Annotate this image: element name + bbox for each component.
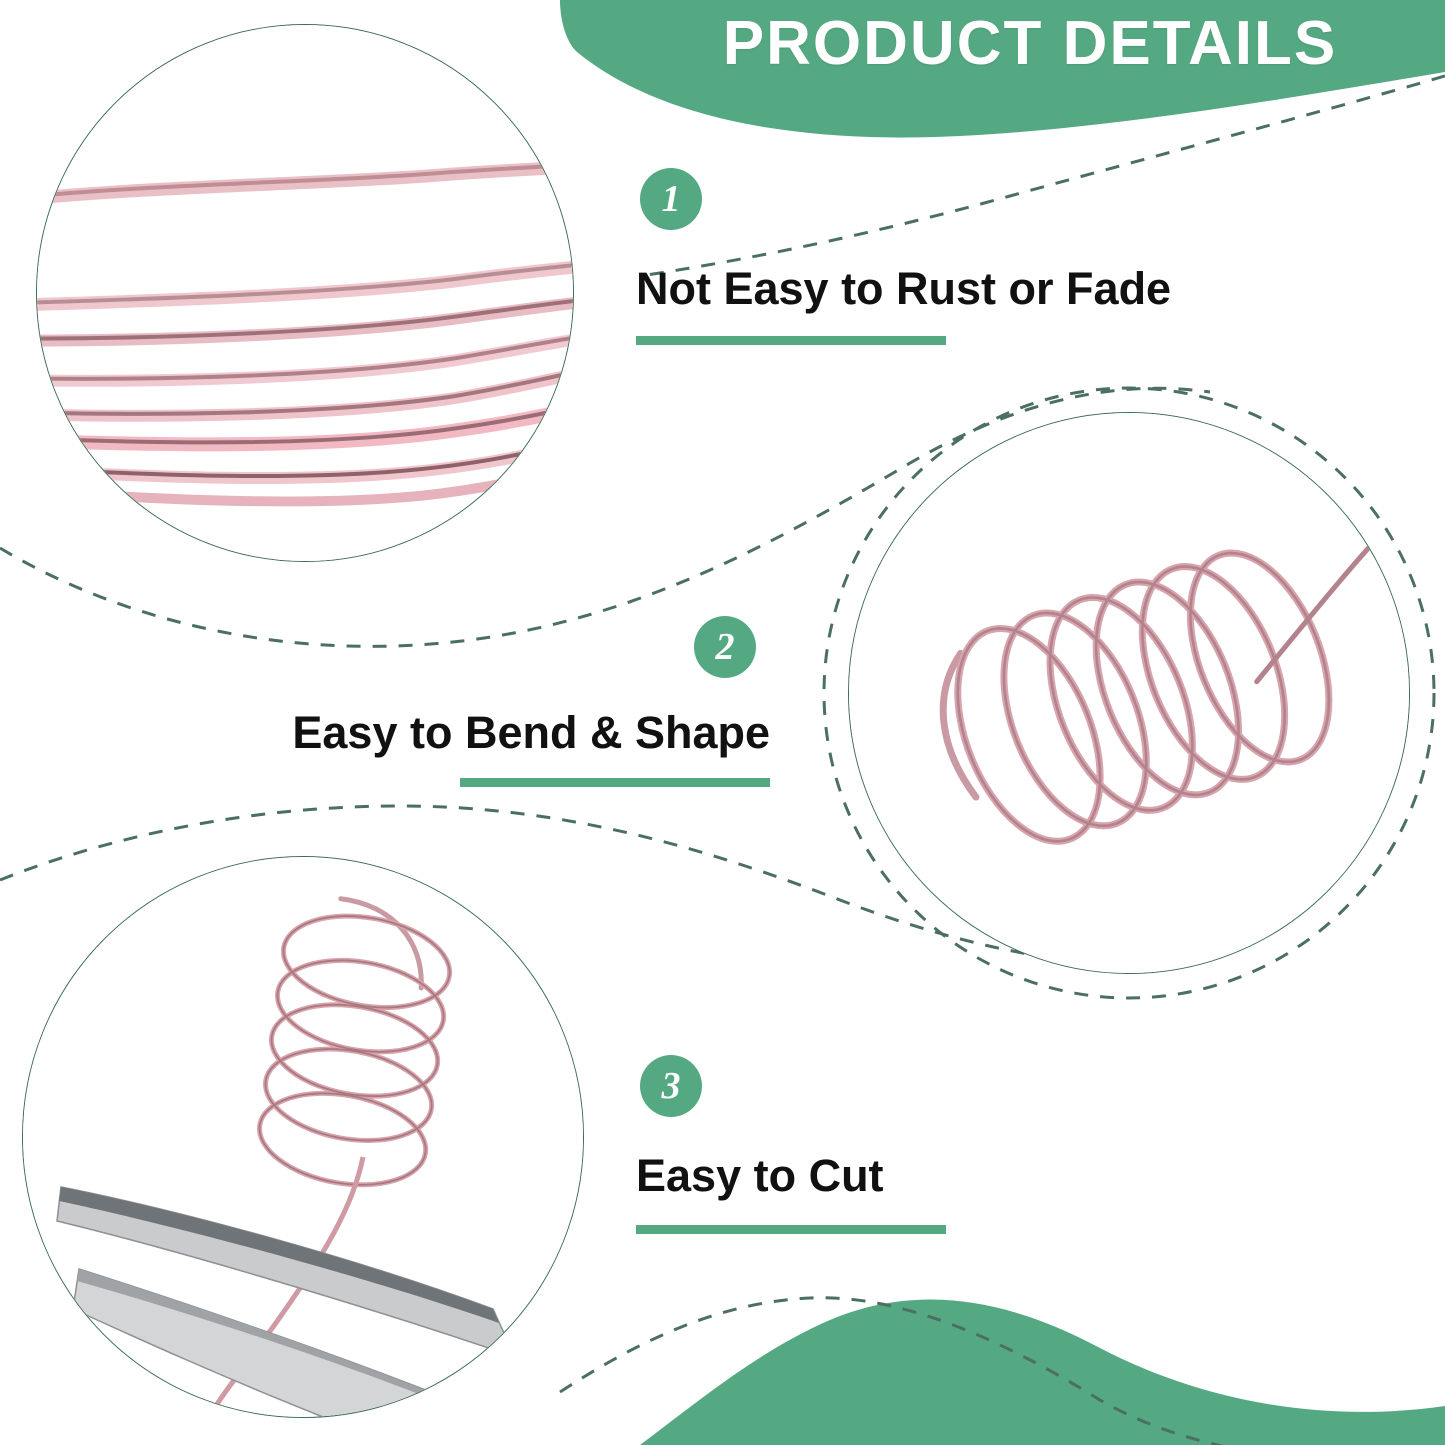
dashed-curve-bottom (560, 1298, 1445, 1445)
feature-2-title: Easy to Bend & Shape (250, 708, 770, 758)
footer-green-shape (640, 1300, 1445, 1445)
cutting-illustration (23, 857, 583, 1417)
feature-1-title: Not Easy to Rust or Fade (636, 264, 1171, 314)
coil-illustration (849, 413, 1409, 973)
page-title: PRODUCT DETAILS (620, 8, 1440, 79)
feature-2-underline (460, 778, 770, 787)
product-details-infographic: PRODUCT DETAILS (0, 0, 1445, 1445)
feature-2-number-badge: 2 (694, 616, 756, 678)
feature-3-underline (636, 1225, 946, 1234)
feature-3-title: Easy to Cut (636, 1151, 946, 1201)
wire-bundle-illustration (37, 25, 573, 561)
feature-block-2: 2 Easy to Bend & Shape (250, 616, 770, 787)
photo-wire-bundle (36, 24, 574, 562)
feature-1-underline (636, 336, 946, 345)
photo-coil (848, 412, 1410, 974)
feature-3-number-badge: 3 (640, 1055, 702, 1117)
feature-1-number-badge: 1 (640, 168, 702, 230)
feature-block-3: 3 Easy to Cut (636, 1055, 946, 1234)
photo-cutting (22, 856, 584, 1418)
feature-block-1: 1 Not Easy to Rust or Fade (636, 168, 1171, 345)
